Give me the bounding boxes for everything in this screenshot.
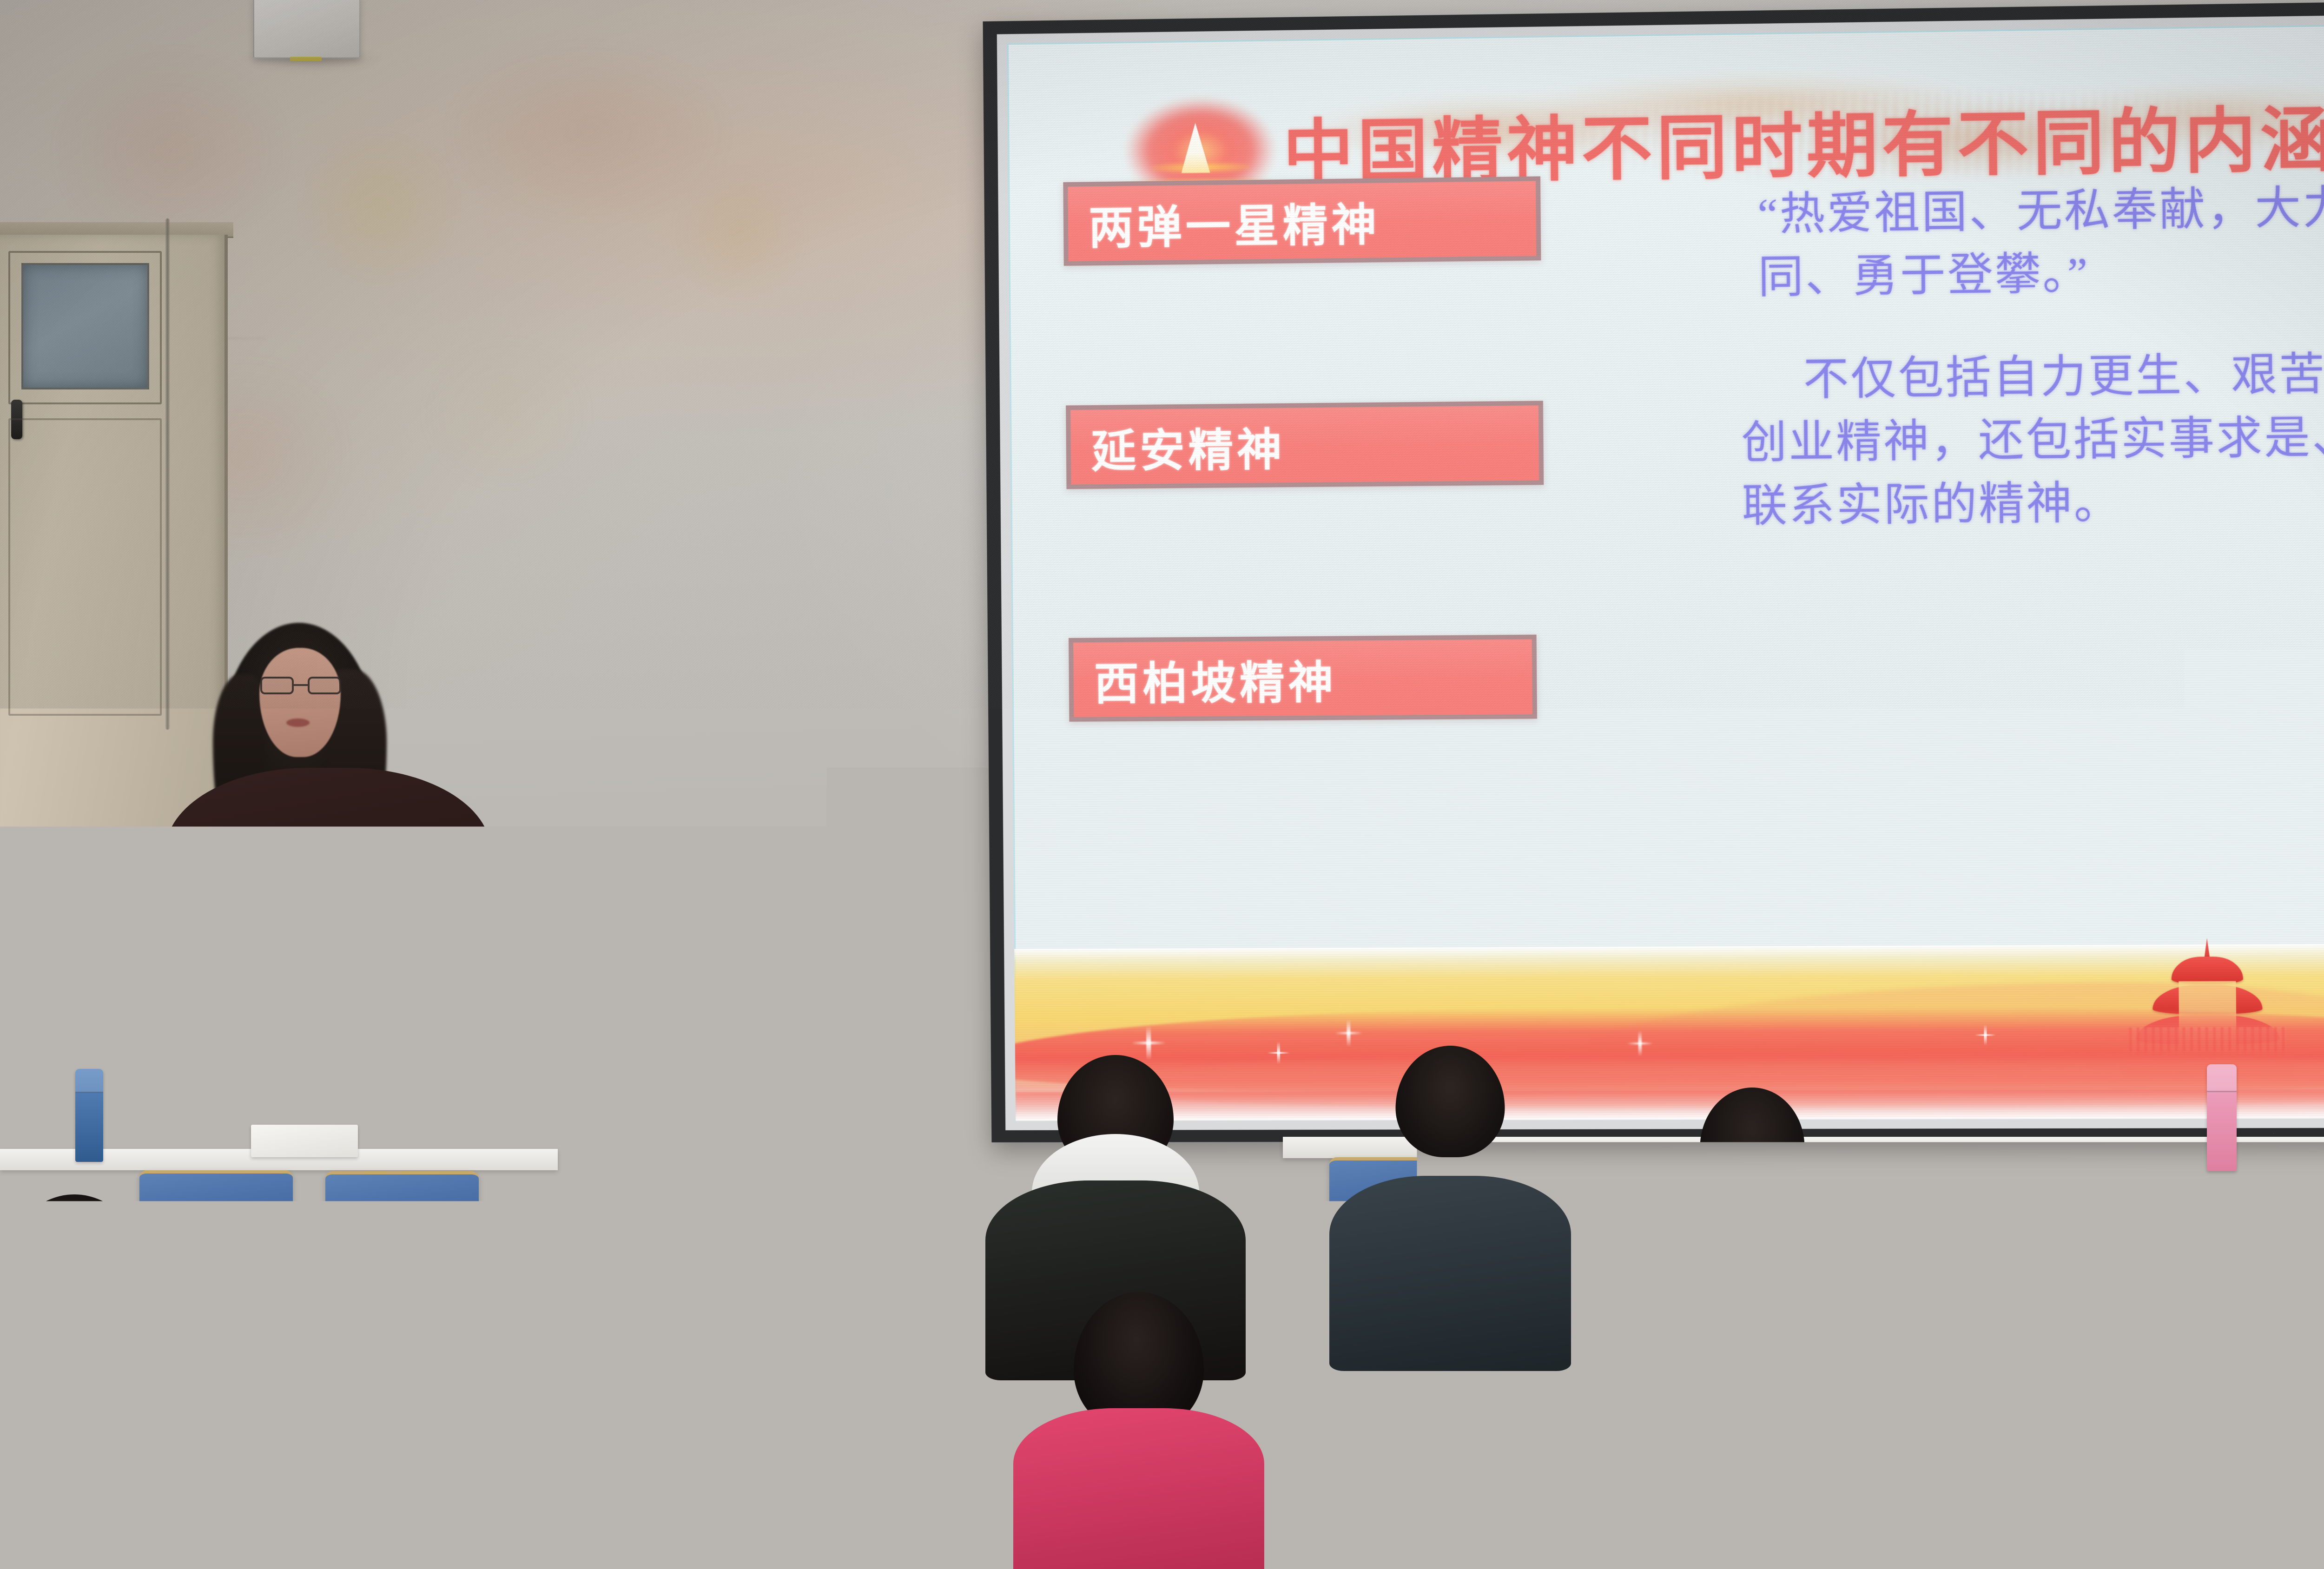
keyword-box-3-label: 西柏坡精神	[1094, 646, 1337, 712]
student-head	[1700, 1088, 1805, 1194]
student	[1645, 1292, 1896, 1569]
seat[interactable]	[2115, 1151, 2278, 1216]
presentation-slide: 中国精神不同时期有不同的内涵 希望从这里点燃…… 两弹一星精神 延安精神 西柏坡…	[1007, 23, 2324, 1121]
student-jacket	[614, 1390, 855, 1569]
student	[28, 1404, 270, 1569]
slide-body-text: “热爱祖国、无私奉献，大力协同、勇于登攀。” 不仅包括自力更生、艰苦奋斗的创业精…	[1739, 174, 2324, 538]
door-lower-panel	[8, 418, 162, 716]
student-jacket	[28, 1496, 270, 1569]
sparkle-icon	[1277, 1042, 1280, 1064]
sparkle-icon	[1347, 1019, 1351, 1047]
eyeglasses-icon	[259, 677, 342, 695]
keyword-box-2-label: 延安精神	[1091, 413, 1286, 479]
presenter-hand-right	[497, 1006, 543, 1037]
keyword-box-1-label: 两弹一星精神	[1089, 188, 1380, 256]
thermos-bottle[interactable]	[2207, 1064, 2237, 1171]
presenter-mouse[interactable]	[508, 1046, 537, 1064]
keyword-box-3[interactable]: 西柏坡精神	[1069, 634, 1537, 721]
student-jacket	[1645, 1408, 1896, 1569]
quote-paragraph-2: 不仅包括自力更生、艰苦奋斗的创业精神，还包括实事求是、理论联系实际的精神。	[1741, 341, 2324, 537]
student-jacket	[1013, 1408, 1264, 1569]
student	[1283, 1394, 1543, 1569]
door-window	[21, 263, 149, 389]
lectern-logo-icon	[116, 1093, 124, 1101]
student-head	[672, 1278, 797, 1408]
student-head	[1396, 1046, 1505, 1157]
seat[interactable]	[2315, 1151, 2324, 1216]
student	[367, 1241, 609, 1569]
audience-area	[0, 1106, 2324, 1569]
notebook[interactable]	[251, 1125, 358, 1157]
thermos-bottle[interactable]	[75, 1069, 103, 1162]
presenter-mouth	[286, 719, 310, 727]
student	[614, 1278, 855, 1569]
sparkle-icon	[1984, 1025, 1987, 1046]
student	[1013, 1292, 1264, 1569]
projection-screen: 中国精神不同时期有不同的内涵 希望从这里点燃…… 两弹一星精神 延安精神 西柏坡…	[983, 0, 2324, 1142]
student-jacket	[367, 1352, 609, 1569]
ceiling-speaker-icon	[253, 0, 360, 58]
quote-paragraph-1: “热爱祖国、无私奉献，大力协同、勇于登攀。”	[1757, 174, 2324, 309]
lecture-hall-photo: 中国精神不同时期有不同的内涵 希望从这里点燃…… 两弹一星精神 延安精神 西柏坡…	[0, 0, 2324, 1569]
presenter	[153, 618, 562, 1083]
screen-mat: 中国精神不同时期有不同的内涵 希望从这里点燃…… 两弹一星精神 延安精神 西柏坡…	[997, 13, 2324, 1130]
keyword-box-1[interactable]: 两弹一星精神	[1063, 176, 1541, 266]
student	[2110, 1408, 2324, 1569]
presenter-hand-left	[145, 1020, 181, 1042]
sparkle-icon	[1638, 1030, 1642, 1056]
student-head	[165, 1208, 300, 1348]
student	[1329, 1046, 1571, 1371]
student-jacket	[1283, 1492, 1543, 1569]
student-jacket	[1329, 1176, 1571, 1371]
student-jacket	[2110, 1501, 2324, 1569]
keyword-box-2[interactable]: 延安精神	[1066, 401, 1544, 489]
